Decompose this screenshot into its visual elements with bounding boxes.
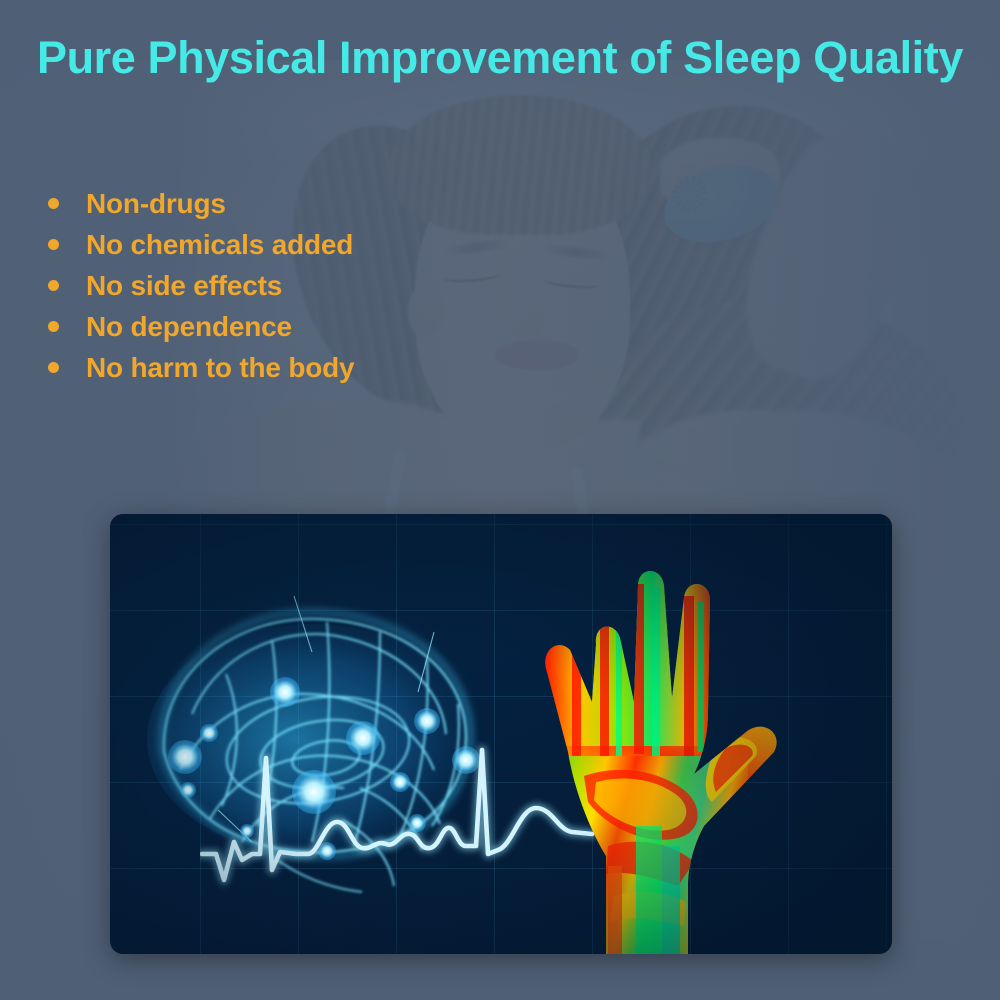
panel-vignette	[110, 514, 892, 954]
bullet-dot-icon	[48, 280, 59, 291]
promo-graphic: Pure Physical Improvement of Sleep Quali…	[0, 0, 1000, 1000]
bullet-dot-icon	[48, 362, 59, 373]
list-item: No harm to the body	[48, 347, 354, 388]
list-item: No chemicals added	[48, 224, 354, 265]
bullet-dot-icon	[48, 239, 59, 250]
list-item-label: Non-drugs	[86, 188, 226, 220]
bullet-dot-icon	[48, 321, 59, 332]
list-item-label: No dependence	[86, 311, 292, 343]
list-item-label: No chemicals added	[86, 229, 353, 261]
benefits-list: Non-drugs No chemicals added No side eff…	[48, 183, 354, 388]
list-item: Non-drugs	[48, 183, 354, 224]
list-item: No dependence	[48, 306, 354, 347]
list-item-label: No harm to the body	[86, 352, 354, 384]
list-item: No side effects	[48, 265, 354, 306]
bullet-dot-icon	[48, 198, 59, 209]
science-panel	[110, 514, 892, 954]
page-title: Pure Physical Improvement of Sleep Quali…	[0, 32, 1000, 84]
list-item-label: No side effects	[86, 270, 282, 302]
